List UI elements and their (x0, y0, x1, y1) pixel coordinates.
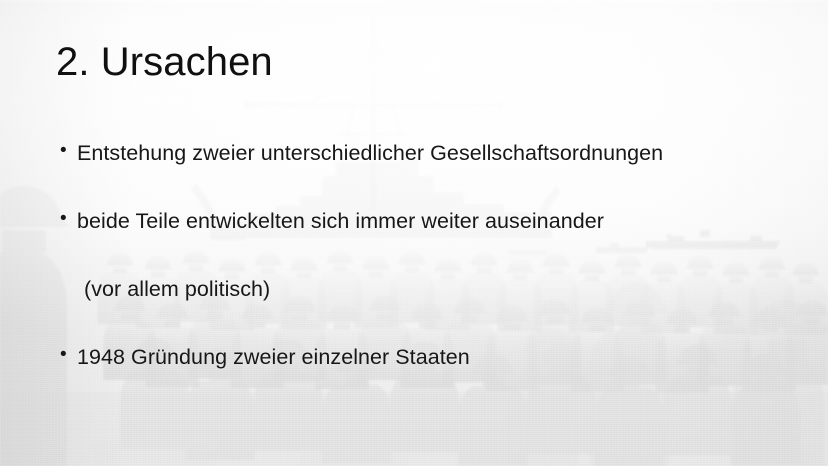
bullet-subnote: (vor allem politisch) (56, 276, 792, 303)
slide-title-placeholder: 2. Ursachen (56, 40, 776, 85)
slide-body-placeholder: Entstehung zweier unterschiedlicher Gese… (56, 140, 792, 371)
presentation-slide: 2. Ursachen Entstehung zweier unterschie… (0, 0, 828, 466)
bullet-item: beide Teile entwickelten sich immer weit… (56, 208, 792, 235)
bullet-item: Entstehung zweier unterschiedlicher Gese… (56, 140, 792, 167)
page-title: 2. Ursachen (56, 40, 776, 85)
bullet-item: 1948 Gründung zweier einzelner Staaten (56, 344, 792, 371)
